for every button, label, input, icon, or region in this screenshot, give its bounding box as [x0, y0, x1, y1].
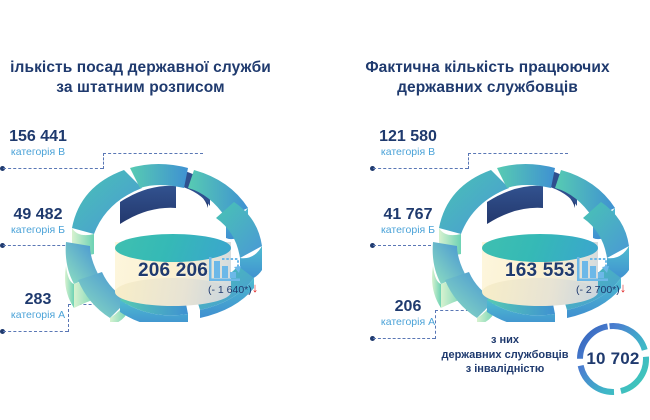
delta-indicator-staffing: (- 1 640*) ↓ [208, 255, 258, 296]
title-line-1: ількість посад державної служби [0, 58, 303, 78]
arrow-down-icon: ↓ [252, 283, 259, 293]
arrow-down-icon: ↓ [620, 283, 627, 293]
title-line-2: державних службовців [325, 78, 650, 98]
page-title-right: Фактична кількість працюючих державних с… [325, 58, 650, 98]
disability-ring-gauge: 10 702 [574, 320, 650, 398]
callout-value: 156 441 [0, 128, 88, 146]
connector-line-category-a-h1 [373, 338, 435, 339]
panel-staffing-schedule: ількість посад державної служби за штатн… [0, 0, 325, 420]
page-title-left: ількість посад державної служби за штатн… [0, 58, 303, 98]
callout-label-category-v: 156 441 категорія В [0, 128, 88, 159]
callout-value: 121 580 [358, 128, 458, 146]
panel-actual-employed: Фактична кількість працюючих державних с… [325, 0, 650, 420]
disability-line-2: державних службовців [430, 348, 580, 363]
title-line-2: за штатним розписом [0, 78, 303, 98]
disability-caption: з них державних службовців з інвалідніст… [430, 333, 580, 377]
descending-bar-chart-icon [576, 255, 610, 283]
connector-line-category-v-h2 [468, 153, 568, 154]
disability-value: 10 702 [574, 320, 650, 398]
callout-category: категорія В [358, 146, 458, 159]
delta-indicator-actual: (- 2 700*) ↓ [576, 255, 626, 296]
callout-label-category-v: 121 580 категорія В [358, 128, 458, 159]
title-line-1: Фактична кількість працюючих [325, 58, 650, 78]
disability-line-3: з інвалідністю [430, 362, 580, 377]
callout-category: категорія В [0, 146, 88, 159]
delta-value: (- 1 640*) [208, 284, 252, 296]
connector-line-category-a-h1 [3, 331, 68, 332]
donut-chart-staffing: 206 206 [58, 162, 288, 322]
descending-bar-chart-icon [208, 255, 242, 283]
disability-line-1: з них [430, 333, 580, 348]
connector-line-category-v-h2 [103, 153, 203, 154]
donut-chart-actual: 163 553 [425, 162, 650, 322]
delta-value: (- 2 700*) [576, 284, 620, 296]
